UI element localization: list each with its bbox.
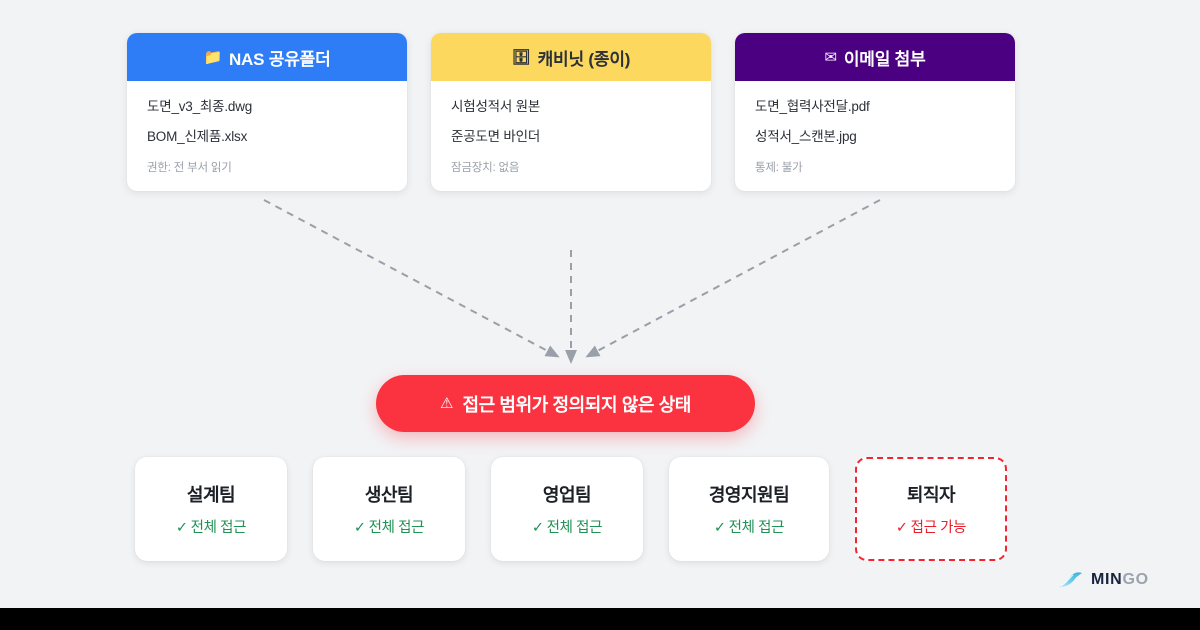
team-status: ✓전체 접근 [354, 516, 424, 537]
team-status-label: 접근 가능 [911, 520, 966, 536]
team-name: 설계팀 [187, 481, 235, 507]
check-icon: ✓ [176, 520, 188, 536]
file-item: BOM_신제품.xlsx [147, 125, 387, 145]
folder-icon: 📁 [203, 50, 221, 65]
source-card-cabinet[interactable]: 🗄 캐비닛 (종이) 시험성적서 원본 준공도면 바인더 잠금장치: 없음 [431, 33, 711, 191]
connector-nas-to-alert [264, 200, 557, 356]
file-item: 도면_v3_최종.dwg [147, 95, 387, 115]
team-card-sales[interactable]: 영업팀 ✓전체 접근 [491, 457, 643, 561]
source-card-cabinet-meta: 잠금장치: 없음 [451, 159, 691, 175]
check-icon: ✓ [896, 520, 908, 536]
source-card-cabinet-title: 캐비닛 (종이) [538, 45, 631, 70]
team-status-label: 전체 접근 [729, 520, 784, 536]
team-status-label: 전체 접근 [547, 520, 602, 536]
brand-wordmark: MINGO [1091, 571, 1149, 589]
envelope-icon: ✉ [824, 50, 836, 65]
source-card-email[interactable]: ✉ 이메일 첨부 도면_협력사전달.pdf 성적서_스캔본.jpg 통제: 불가 [735, 33, 1015, 191]
connector-email-to-alert [588, 200, 880, 356]
team-name: 경영지원팀 [709, 481, 789, 507]
letterbox-bar-bottom [0, 608, 1200, 630]
brand-wordmark-min: MIN [1091, 571, 1122, 588]
team-status: ✓접근 가능 [896, 516, 966, 537]
team-card-leaver[interactable]: 퇴직자 ✓접근 가능 [855, 457, 1007, 561]
alert-banner: ⚠ 접근 범위가 정의되지 않은 상태 [376, 375, 755, 432]
source-card-email-title: 이메일 첨부 [844, 45, 926, 70]
source-card-email-meta: 통제: 불가 [755, 159, 995, 175]
team-status: ✓전체 접근 [532, 516, 602, 537]
team-status: ✓전체 접근 [714, 516, 784, 537]
file-item: 도면_협력사전달.pdf [755, 95, 995, 115]
file-item: 준공도면 바인더 [451, 125, 691, 145]
team-card-production[interactable]: 생산팀 ✓전체 접근 [313, 457, 465, 561]
team-card-design[interactable]: 설계팀 ✓전체 접근 [135, 457, 287, 561]
team-name: 퇴직자 [907, 481, 955, 507]
check-icon: ✓ [532, 520, 544, 536]
wave-logo-icon [1058, 571, 1084, 589]
source-card-nas[interactable]: 📁 NAS 공유폴더 도면_v3_최종.dwg BOM_신제품.xlsx 권한:… [127, 33, 407, 191]
warning-triangle-icon: ⚠ [440, 396, 453, 411]
source-card-nas-title: NAS 공유폴더 [229, 45, 331, 70]
brand-wordmark-go: GO [1122, 571, 1148, 588]
brand-logo: MINGO [1058, 571, 1149, 589]
source-card-cabinet-body: 시험성적서 원본 준공도면 바인더 잠금장치: 없음 [431, 81, 711, 191]
diagram-canvas: 📁 NAS 공유폴더 도면_v3_최종.dwg BOM_신제품.xlsx 권한:… [0, 0, 1200, 630]
team-status: ✓전체 접근 [176, 516, 246, 537]
team-name: 생산팀 [365, 481, 413, 507]
team-status-label: 전체 접근 [369, 520, 424, 536]
source-card-nas-body: 도면_v3_최종.dwg BOM_신제품.xlsx 권한: 전 부서 읽기 [127, 81, 407, 191]
check-icon: ✓ [354, 520, 366, 536]
source-card-email-body: 도면_협력사전달.pdf 성적서_스캔본.jpg 통제: 불가 [735, 81, 1015, 191]
source-card-email-header: ✉ 이메일 첨부 [735, 33, 1015, 81]
team-card-admin[interactable]: 경영지원팀 ✓전체 접근 [669, 457, 829, 561]
source-card-cabinet-header: 🗄 캐비닛 (종이) [431, 33, 711, 81]
source-card-nas-meta: 권한: 전 부서 읽기 [147, 159, 387, 175]
team-name: 영업팀 [543, 481, 591, 507]
file-cabinet-icon: 🗄 [512, 50, 531, 65]
file-item: 성적서_스캔본.jpg [755, 125, 995, 145]
team-status-label: 전체 접근 [191, 520, 246, 536]
file-item: 시험성적서 원본 [451, 95, 691, 115]
check-icon: ✓ [714, 520, 726, 536]
source-card-nas-header: 📁 NAS 공유폴더 [127, 33, 407, 81]
alert-banner-text: 접근 범위가 정의되지 않은 상태 [462, 391, 690, 417]
